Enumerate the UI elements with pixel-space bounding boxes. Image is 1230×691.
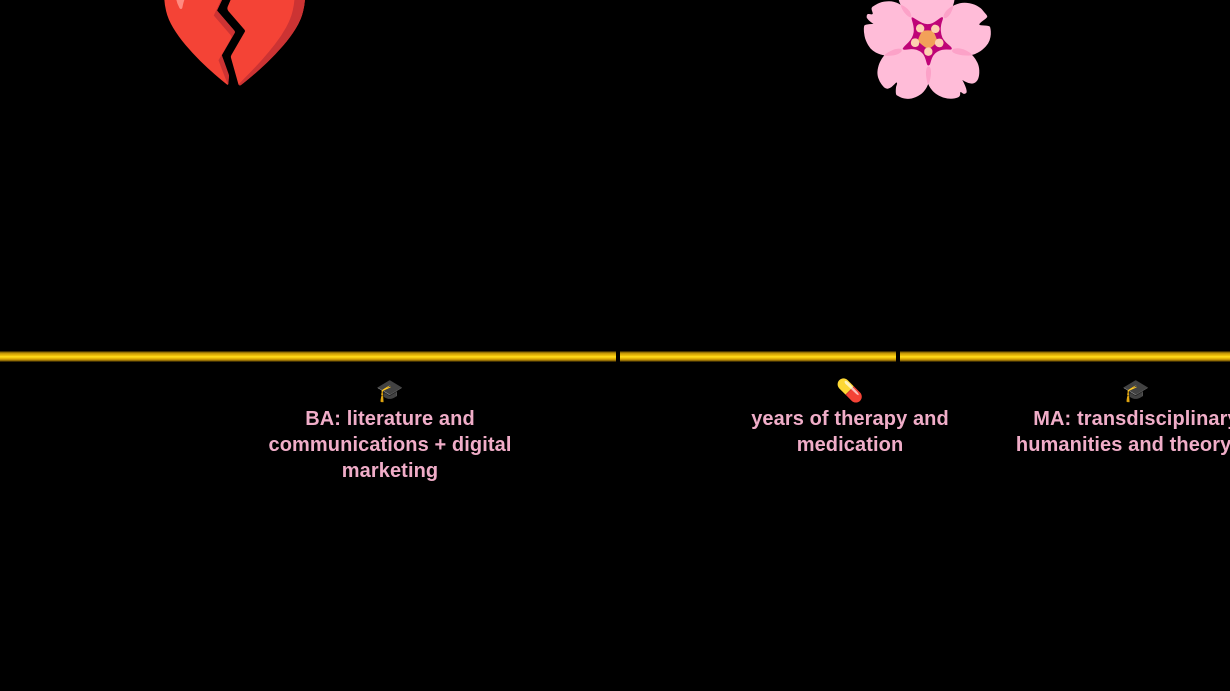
timeline-tick-2 xyxy=(896,344,900,368)
graduation-cap-icon: 🎓 xyxy=(988,380,1230,402)
broken-heart-emoji: 💔 xyxy=(155,0,314,90)
milestone-label-ma-degree: MA: transdisciplinary humanities and the… xyxy=(988,406,1230,458)
graduation-cap-icon: 🎓 xyxy=(250,380,530,402)
timeline-milestone-ma-degree[interactable]: 🎓 MA: transdisciplinary humanities and t… xyxy=(988,380,1230,458)
cherry-blossom-emoji: 🌸 xyxy=(855,0,999,94)
timeline-tick-1 xyxy=(616,344,620,368)
timeline-canvas: 💔 🌸 🎓 BA: literature and communications … xyxy=(0,0,1230,691)
timeline-milestone-ba-degree[interactable]: 🎓 BA: literature and communications + di… xyxy=(250,380,530,484)
timeline-milestone-therapy[interactable]: 💊 years of therapy and medication xyxy=(730,380,970,458)
timeline-axis xyxy=(0,351,1230,362)
milestone-label-therapy: years of therapy and medication xyxy=(730,406,970,458)
pill-icon: 💊 xyxy=(730,380,970,402)
milestone-label-ba-degree: BA: literature and communications + digi… xyxy=(250,406,530,484)
